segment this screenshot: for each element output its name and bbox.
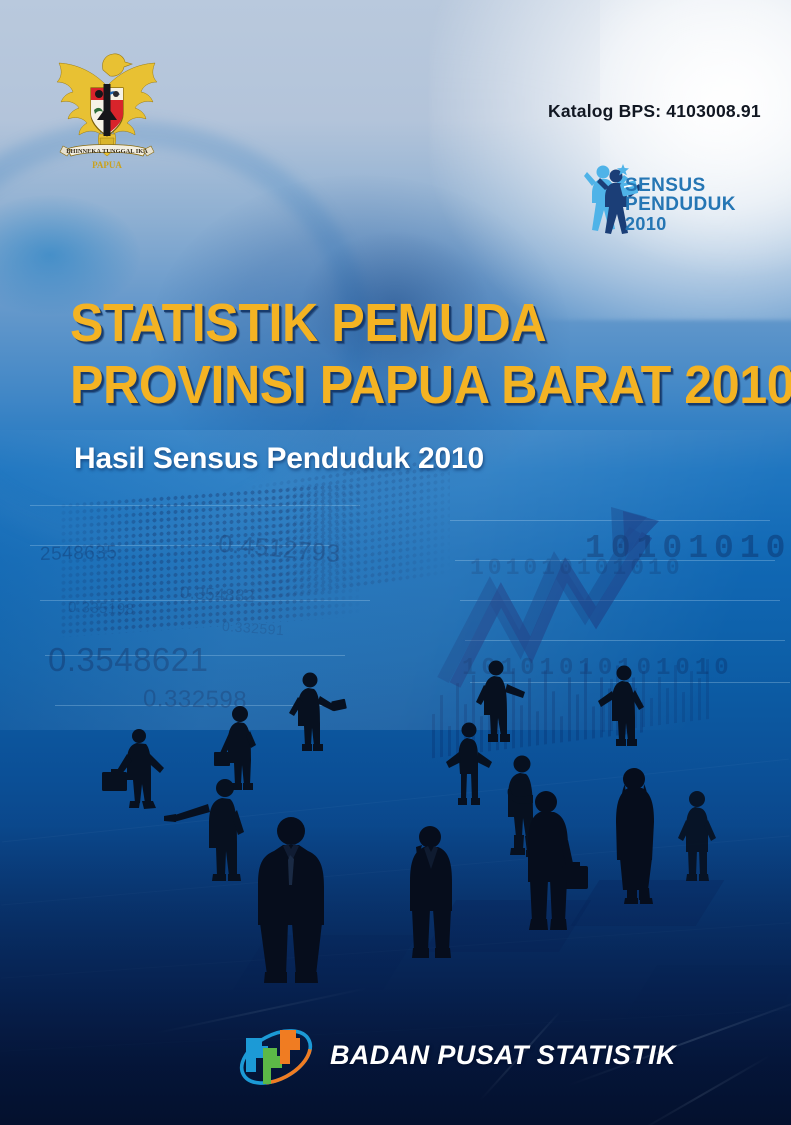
- silhouette-person-distant: [672, 790, 722, 886]
- silhouette-man-briefcase: [512, 790, 592, 938]
- svg-text:PAPUA: PAPUA: [92, 160, 122, 170]
- silhouette-woman-suit: [392, 825, 472, 963]
- sensus-line-3: 2010: [625, 215, 736, 233]
- sensus-line-2: PENDUDUK: [625, 195, 736, 214]
- title-line-2: PROVINSI PAPUA BARAT 2010: [70, 354, 702, 416]
- silhouette-woman-standing: [600, 766, 670, 906]
- sensus-line-1: SENSUS: [625, 176, 736, 195]
- publisher-name: BADAN PUSAT STATISTIK: [330, 1040, 676, 1071]
- silhouette-man-tablet: [284, 672, 352, 754]
- svg-text:BHINNEKA TUNGGAL IKA: BHINNEKA TUNGGAL IKA: [66, 148, 148, 155]
- garuda-pancasila-emblem: BHINNEKA TUNGGAL IKA PAPUA: [47, 48, 167, 173]
- bps-logo-icon: [232, 1018, 320, 1096]
- page-subtitle: Hasil Sensus Penduduk 2010: [74, 442, 484, 476]
- catalog-number: Katalog BPS: 4103008.91: [548, 101, 761, 122]
- page-title: STATISTIK PEMUDA PROVINSI PAPUA BARAT 20…: [70, 292, 750, 416]
- book-cover: 2548635 0.4512793 0.354882 0.3548621 0.3…: [0, 0, 791, 1125]
- silhouette-man-suit-front: [236, 815, 346, 987]
- title-line-1: STATISTIK PEMUDA: [70, 292, 702, 354]
- sensus-penduduk-logo-text: SENSUS PENDUDUK 2010: [625, 176, 736, 233]
- silhouette-woman-hips: [440, 722, 500, 812]
- silhouette-person-phone: [590, 665, 658, 749]
